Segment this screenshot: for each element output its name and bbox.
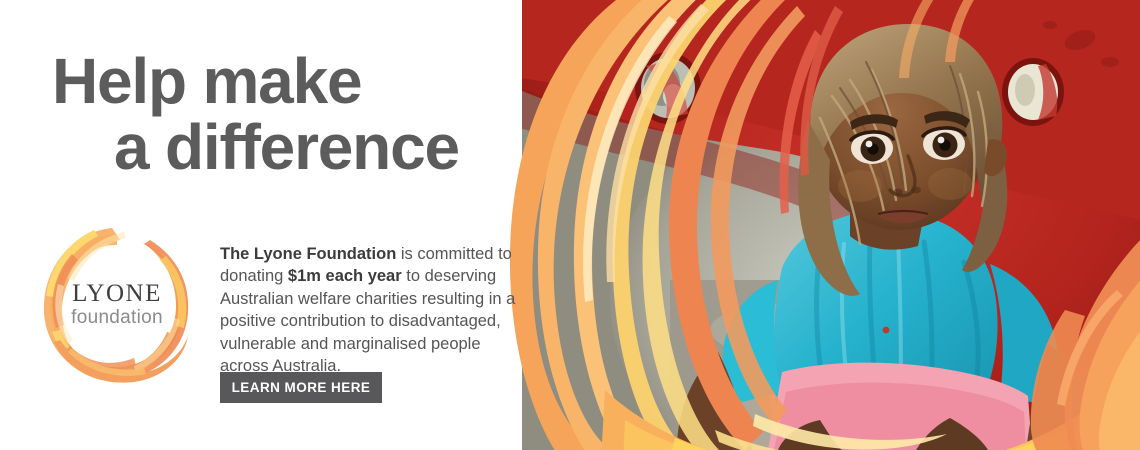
body-paragraph: The Lyone Foundation is committed to don…: [220, 243, 520, 378]
body-emphasis: The Lyone Foundation: [220, 245, 396, 263]
content-panel: Help make a difference: [0, 0, 560, 450]
page-title: Help make a difference: [52, 48, 522, 180]
logo-brush-ring-icon: [38, 224, 196, 384]
body-emphasis: $1m each year: [288, 267, 402, 285]
hero-photo-artwork: [520, 0, 1140, 450]
learn-more-button[interactable]: LEARN MORE HERE: [220, 372, 382, 403]
headline-line-1: Help make: [52, 48, 522, 114]
lyone-foundation-banner: Help make a difference: [0, 0, 1140, 450]
headline-line-2: a difference: [52, 114, 522, 180]
hero-photo: [520, 0, 1140, 450]
lyone-foundation-logo[interactable]: LYONE foundation: [38, 224, 196, 384]
